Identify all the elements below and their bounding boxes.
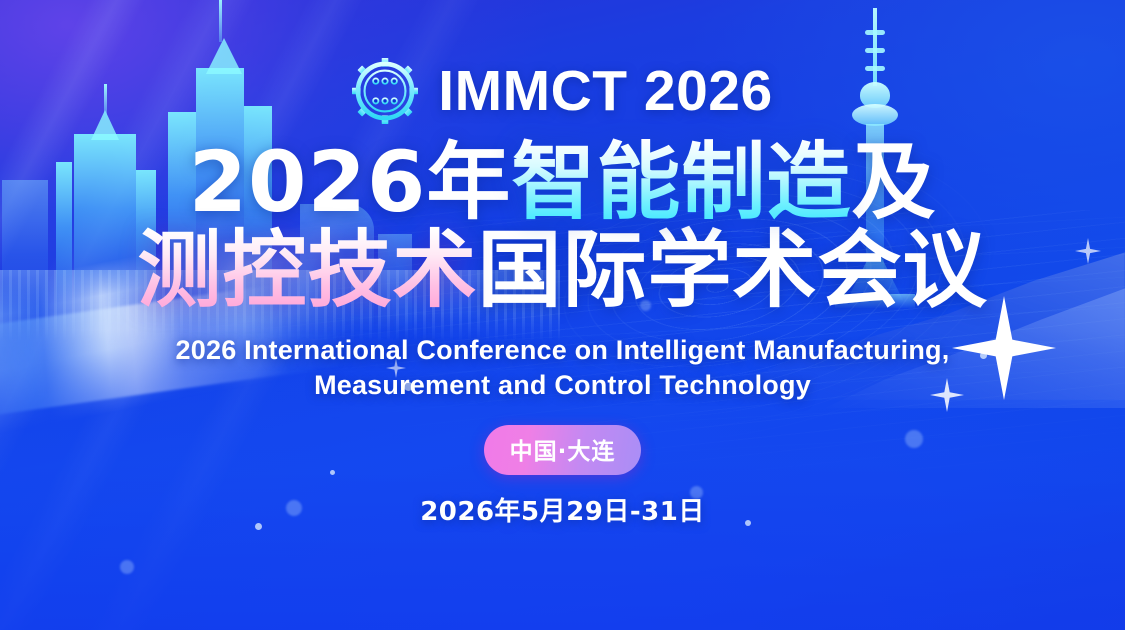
- english-subtitle-line-2: Measurement and Control Technology: [176, 368, 950, 403]
- headline-segment-and: 及: [851, 133, 936, 231]
- headline-segment-intelligent-manufacturing: 智能制造: [511, 133, 851, 231]
- english-subtitle-line-1: 2026 International Conference on Intelli…: [176, 333, 950, 368]
- gear-circuit-logo-icon: [352, 58, 418, 124]
- banner-content: IMMCT 2026 2026年智能制造及 测控技术国际学术会议 2026 In…: [0, 0, 1125, 630]
- headline-segment-year: 2026年: [189, 133, 512, 231]
- headline-line-1: 2026年智能制造及: [189, 136, 937, 228]
- headline-segment-intl-conference: 国际学术会议: [478, 221, 988, 319]
- headline-segment-measurement-control: 测控技术: [137, 221, 477, 319]
- conference-banner: IMMCT 2026 2026年智能制造及 测控技术国际学术会议 2026 In…: [0, 0, 1125, 630]
- english-subtitle: 2026 International Conference on Intelli…: [176, 333, 950, 403]
- location-badge: 中国·大连: [484, 425, 642, 475]
- conference-date: 2026年5月29日-31日: [420, 491, 705, 528]
- brand-row: IMMCT 2026: [352, 58, 772, 124]
- headline-line-2: 测控技术国际学术会议: [137, 224, 987, 316]
- brand-title: IMMCT 2026: [438, 63, 772, 120]
